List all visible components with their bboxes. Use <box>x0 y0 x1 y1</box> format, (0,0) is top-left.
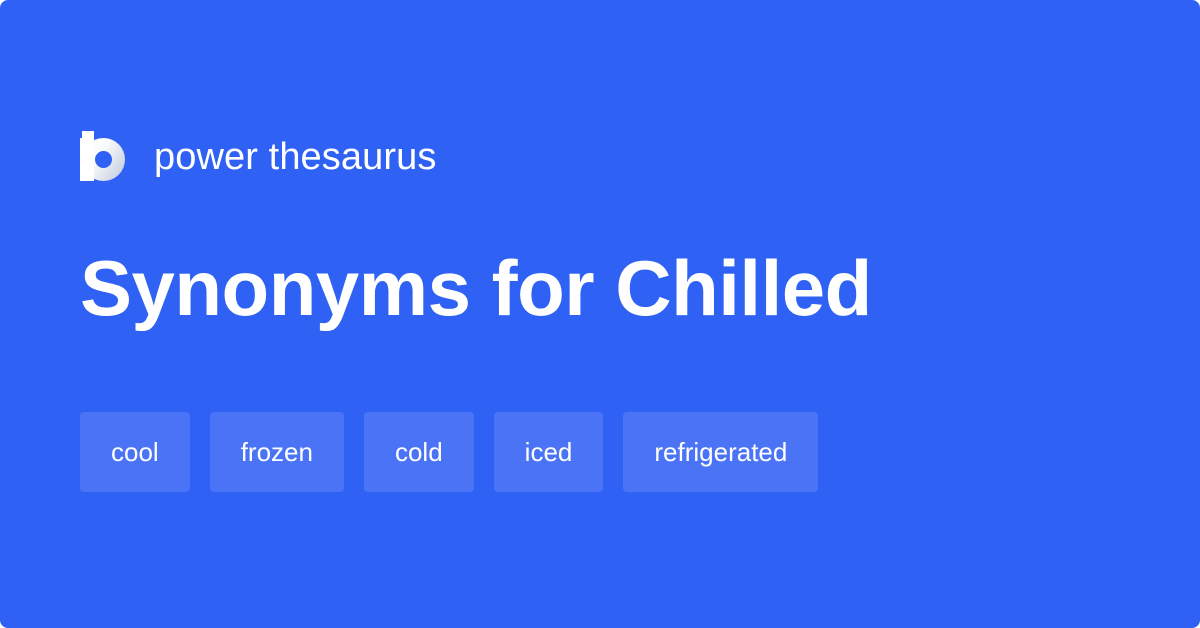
synonym-chip-list: cool frozen cold iced refrigerated <box>80 412 1120 492</box>
page-title: Synonyms for Chilled <box>80 246 872 330</box>
synonym-chip[interactable]: cold <box>364 412 474 492</box>
synonym-chip[interactable]: cool <box>80 412 190 492</box>
brand-name: power thesaurus <box>154 138 436 176</box>
brand-header[interactable]: power thesaurus <box>80 128 436 186</box>
synonym-chip[interactable]: iced <box>494 412 604 492</box>
power-thesaurus-b-logo-icon <box>80 131 126 183</box>
synonym-chip[interactable]: frozen <box>210 412 344 492</box>
synonym-chip[interactable]: refrigerated <box>623 412 818 492</box>
social-share-card: power thesaurus Synonyms for Chilled coo… <box>0 0 1200 628</box>
